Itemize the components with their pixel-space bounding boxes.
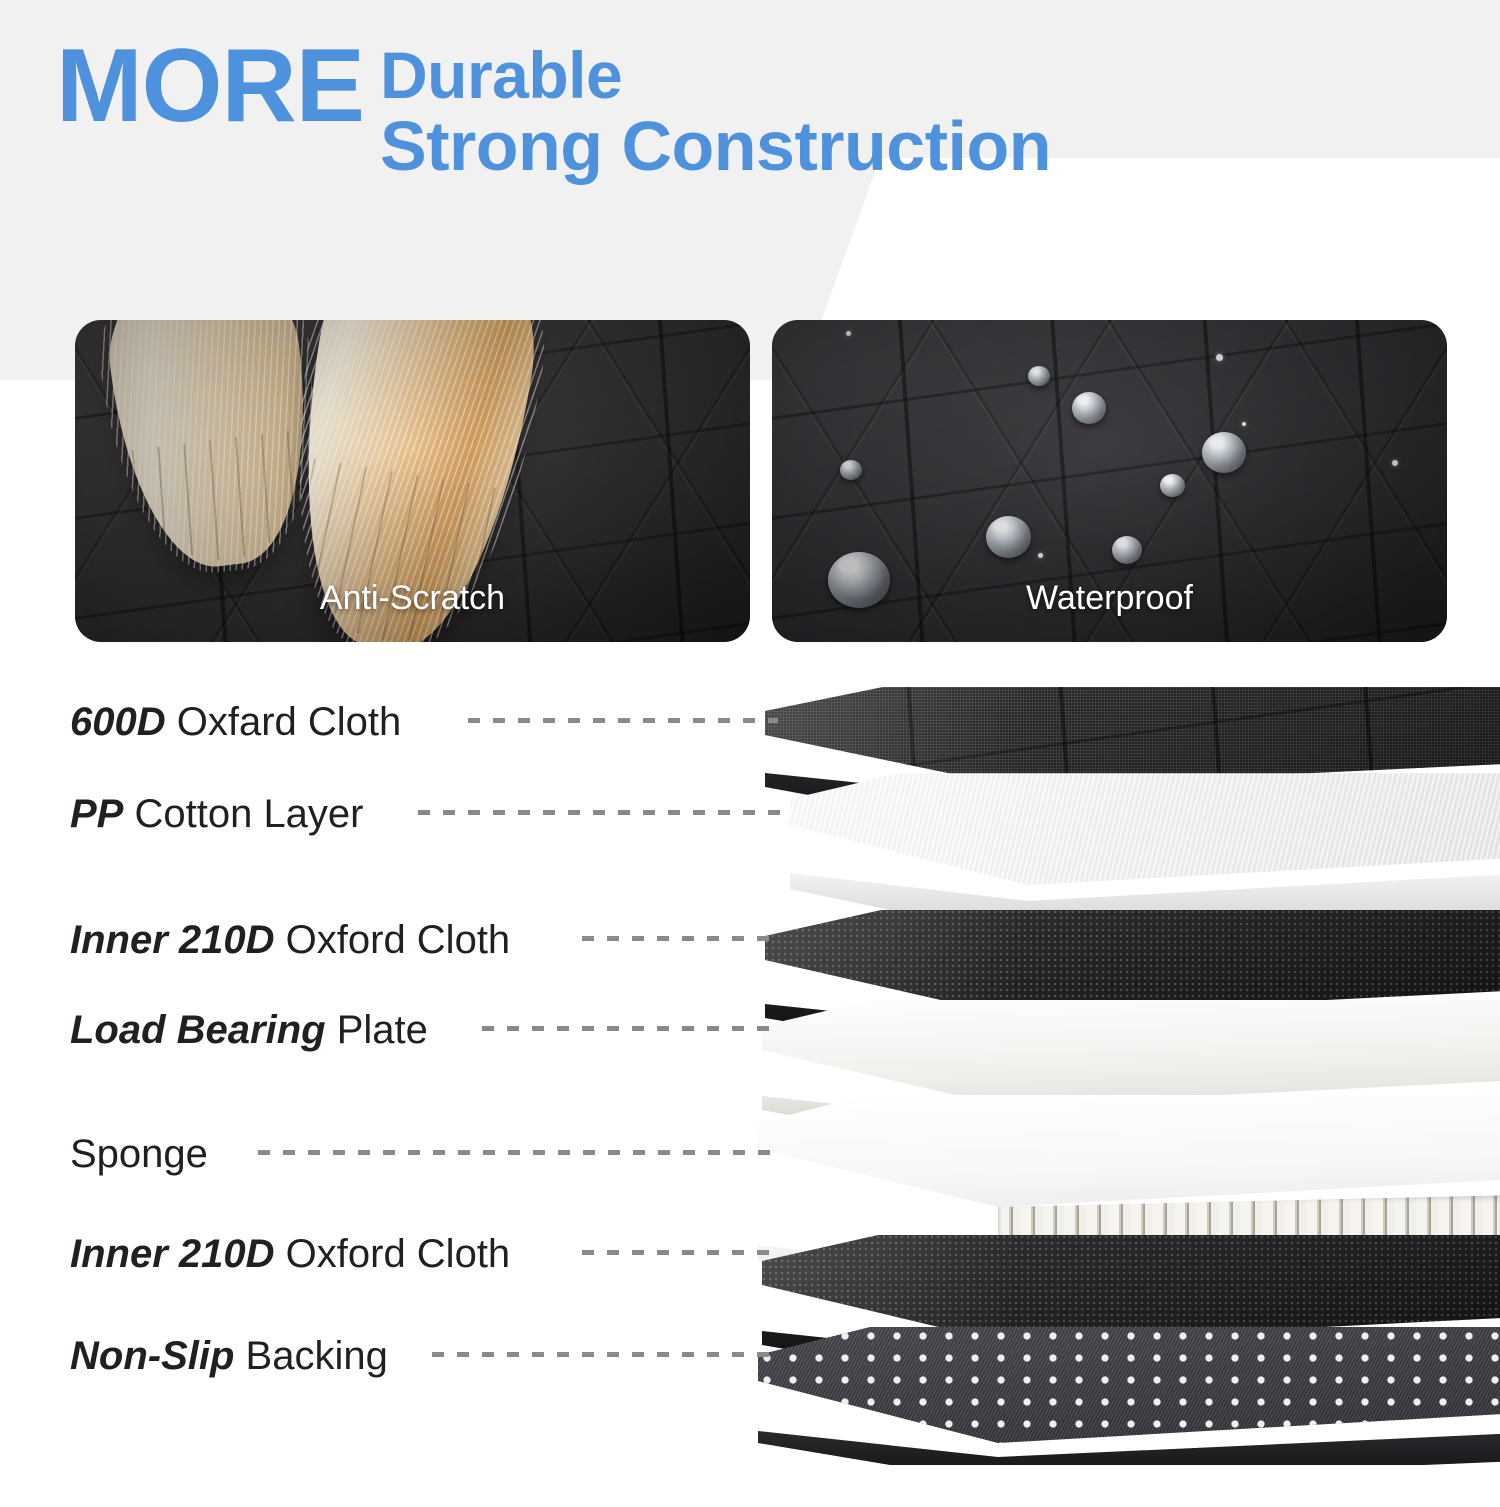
leader-line-load-bearing-plate [482,1026,780,1031]
layer-label-oxford-600d: 600D Oxfard Cloth [70,702,401,742]
heading-line-2: Strong Construction [380,110,1051,182]
layer-rest: Oxfard Cloth [166,700,402,744]
feature-card-label: Anti-Scratch [75,579,750,618]
layer-emphasis: Inner 210D [70,1232,275,1276]
layer-non-slip-backing [758,1327,1500,1507]
leader-line-sponge [258,1150,778,1155]
layer-emphasis: 600D [70,700,166,744]
layer-label-pp-cotton: PP Cotton Layer [70,794,364,834]
feature-card-waterproof[interactable]: Waterproof [772,320,1447,642]
layer-label-oxford-210d-top: Inner 210D Oxford Cloth [70,920,510,960]
leader-line-oxford-210d-bottom [582,1250,778,1255]
layer-label-load-bearing-plate: Load Bearing Plate [70,1010,428,1050]
leader-line-pp-cotton [418,810,788,815]
page-title: MORE Durable Strong Construction [0,38,1460,182]
layer-emphasis: Non-Slip [70,1334,234,1378]
feature-card-anti-scratch[interactable]: Anti-Scratch [75,320,750,642]
layer-label-non-slip-backing: Non-Slip Backing [70,1336,388,1376]
layer-label-oxford-210d-bottom: Inner 210D Oxford Cloth [70,1234,510,1274]
layer-emphasis: PP [70,792,123,836]
leader-line-oxford-210d-top [582,936,778,941]
layer-emphasis: Load Bearing [70,1008,326,1052]
layer-rest: Oxford Cloth [275,918,511,962]
layer-rest: Plate [326,1008,428,1052]
leader-line-oxford-600d [468,718,778,723]
layer-label-sponge: Sponge [70,1134,208,1174]
layer-rest: Backing [234,1334,387,1378]
layer-rest: Sponge [70,1132,208,1176]
feature-card-label: Waterproof [772,579,1447,618]
layer-rest: Oxford Cloth [275,1232,511,1276]
leader-line-non-slip-backing [432,1352,778,1357]
heading-more-word: MORE [0,38,364,136]
layer-emphasis: Inner 210D [70,918,275,962]
heading-line-1: Durable [380,42,1051,110]
layer-rest: Cotton Layer [123,792,363,836]
